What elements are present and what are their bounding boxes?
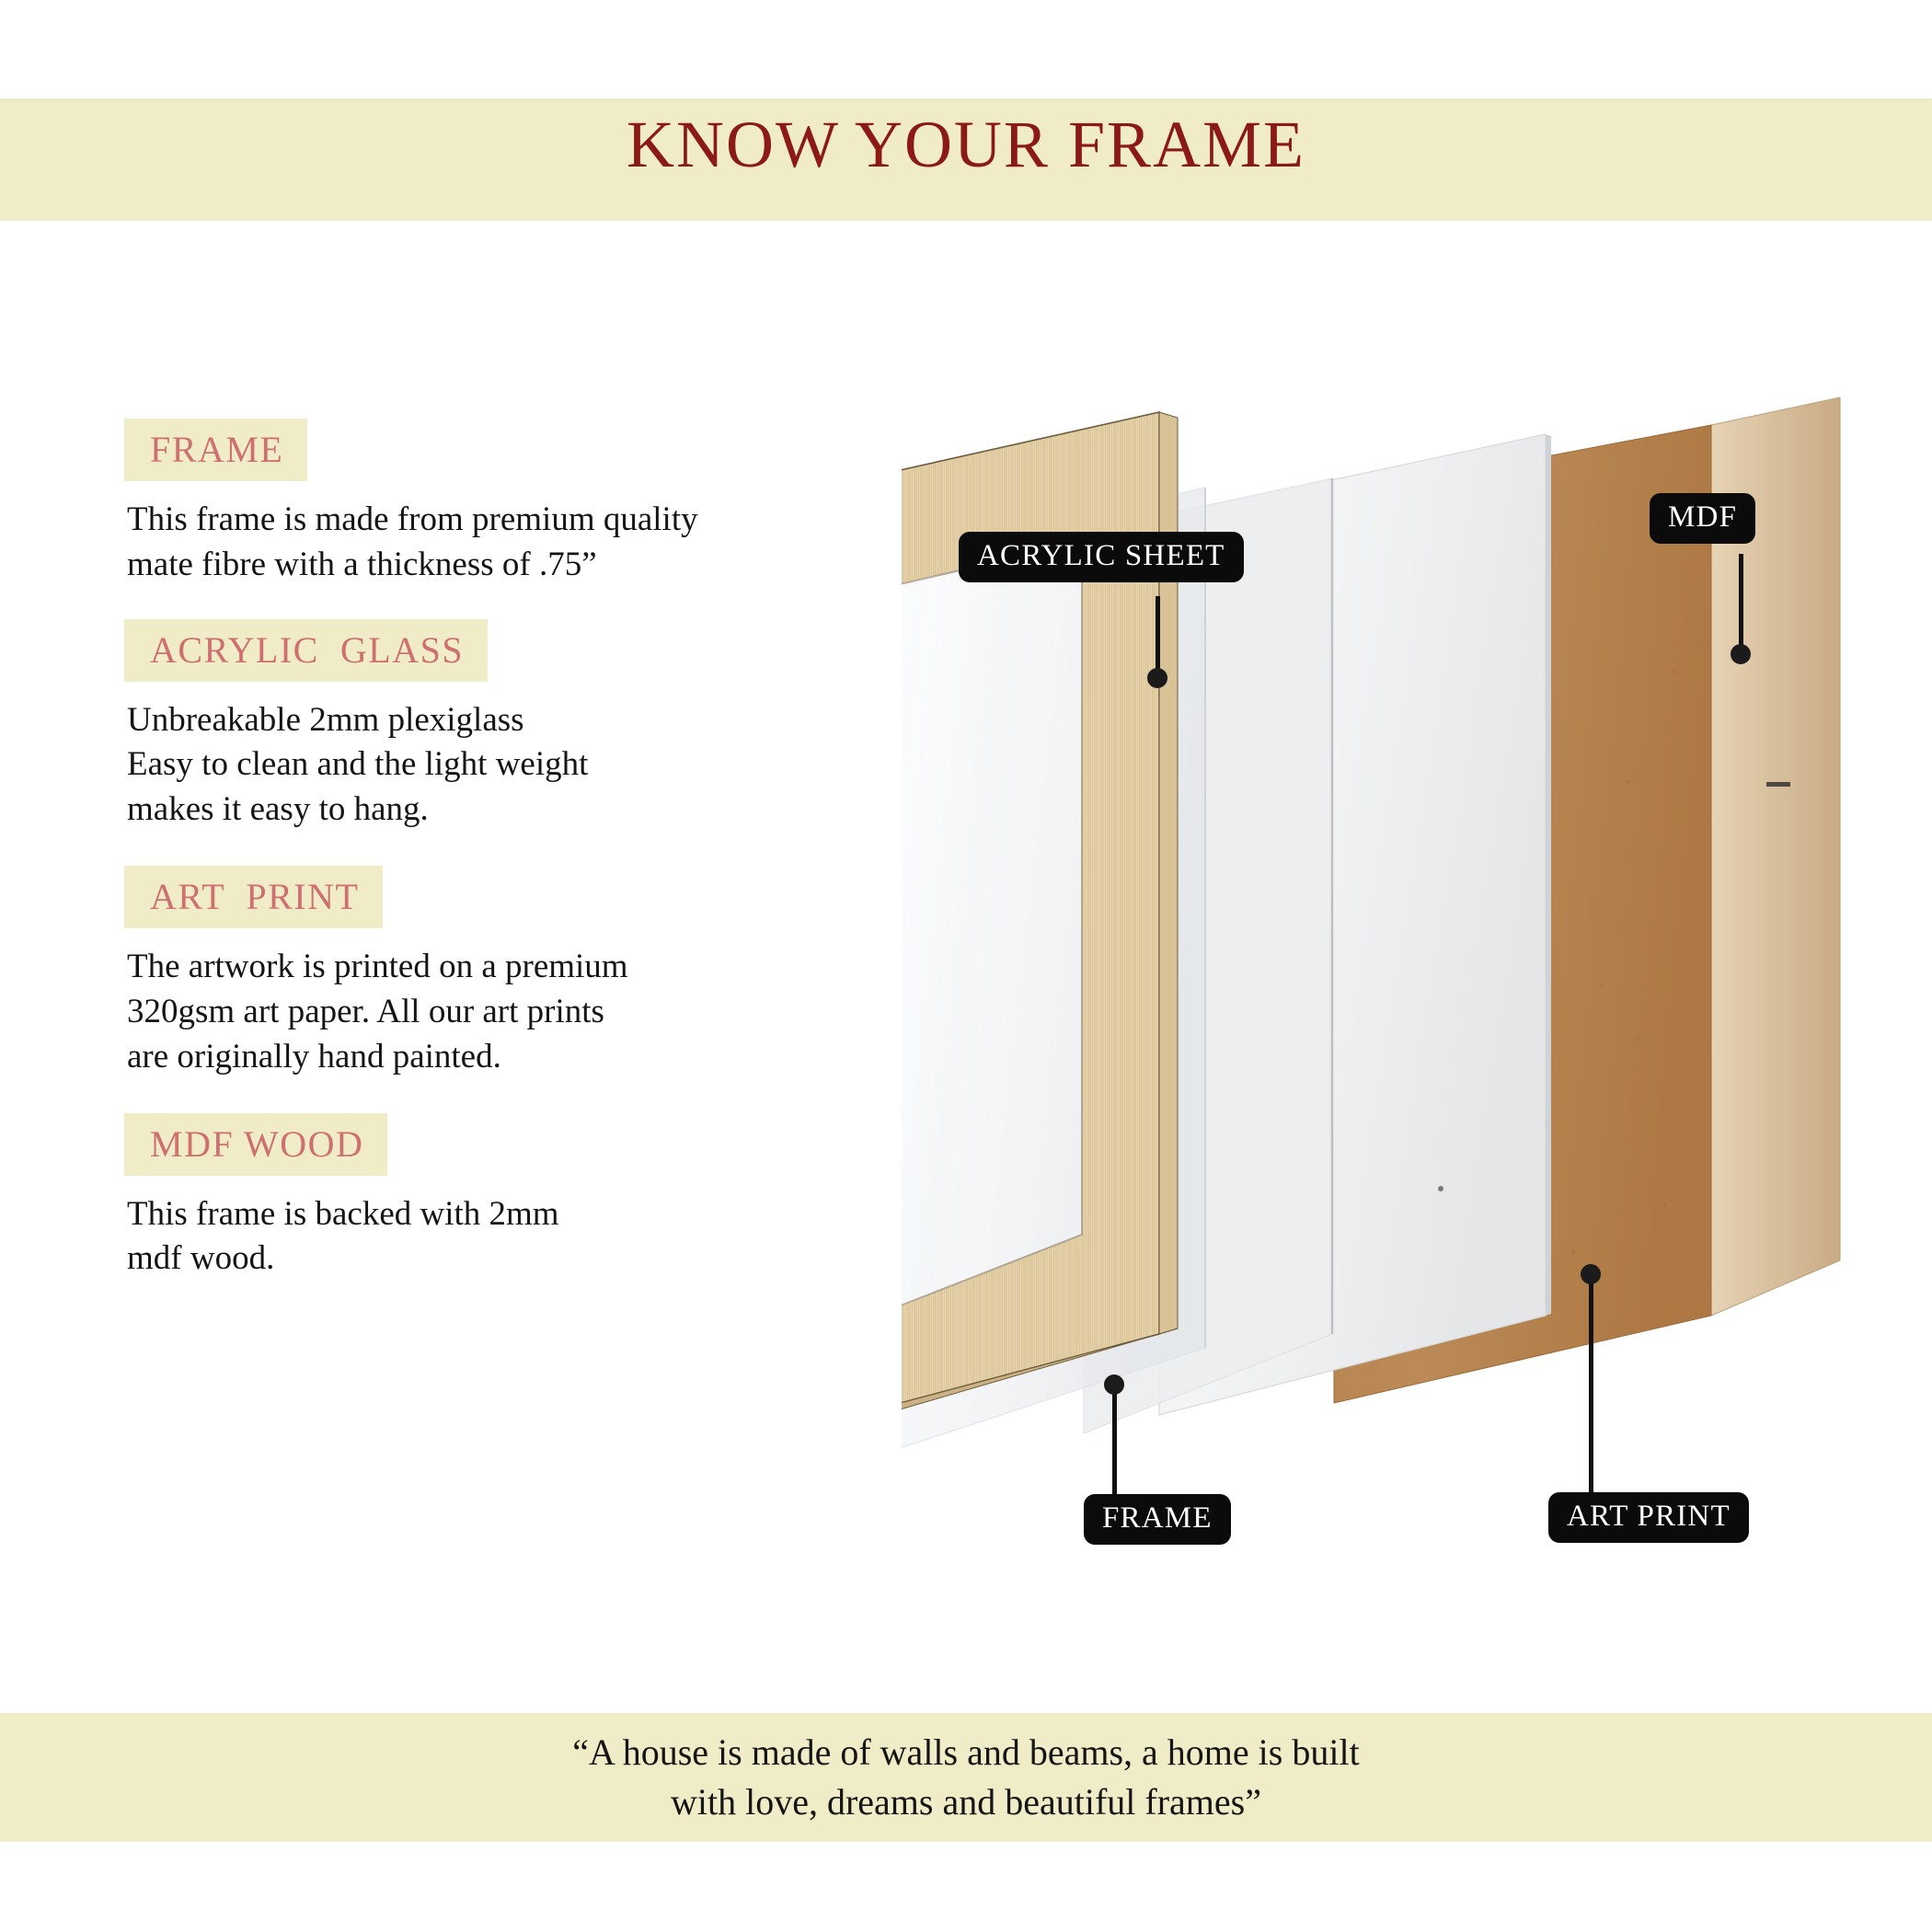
info-block-art-print: ART PRINT The artwork is printed on a pr…: [124, 866, 934, 1079]
info-block-mdf-wood: MDF WOOD This frame is backed with 2mm m…: [124, 1113, 934, 1282]
info-heading-art-print: ART PRINT: [124, 866, 383, 928]
info-block-acrylic-glass: ACRYLIC GLASS Unbreakable 2mm plexiglass…: [124, 619, 934, 833]
leader-dot-acrylic-sheet: [1147, 668, 1167, 688]
infographic-page: KNOW YOUR FRAME FRAME This frame is made…: [0, 0, 1932, 1932]
info-body-mdf-wood: This frame is backed with 2mm mdf wood.: [124, 1192, 934, 1282]
info-body-frame: This frame is made from premium quality …: [124, 498, 934, 588]
leader-line-art-print: [1589, 1274, 1593, 1500]
info-block-frame: FRAME This frame is made from premium qu…: [124, 419, 934, 588]
info-column: FRAME This frame is made from premium qu…: [124, 419, 934, 1282]
leader-dot-frame: [1104, 1374, 1124, 1395]
quote-text: “A house is made of walls and beams, a h…: [0, 1728, 1932, 1826]
leader-dot-art-print: [1581, 1264, 1601, 1284]
leader-line-mdf: [1739, 554, 1743, 655]
info-heading-mdf-wood: MDF WOOD: [124, 1113, 387, 1176]
info-body-art-print: The artwork is printed on a premium 320g…: [124, 945, 934, 1079]
info-heading-frame: FRAME: [124, 419, 307, 481]
info-heading-acrylic-glass: ACRYLIC GLASS: [124, 619, 488, 682]
callout-acrylic-sheet[interactable]: ACRYLIC SHEET: [959, 532, 1244, 582]
leader-dot-mdf: [1731, 644, 1751, 664]
callout-frame[interactable]: FRAME: [1084, 1494, 1231, 1545]
leader-line-frame: [1112, 1385, 1117, 1500]
page-title: KNOW YOUR FRAME: [0, 107, 1932, 183]
callout-art-print[interactable]: ART PRINT: [1548, 1492, 1749, 1543]
callout-mdf[interactable]: MDF: [1650, 493, 1755, 544]
leader-line-acrylic-sheet: [1156, 596, 1160, 679]
info-body-acrylic-glass: Unbreakable 2mm plexiglass Easy to clean…: [124, 698, 934, 833]
